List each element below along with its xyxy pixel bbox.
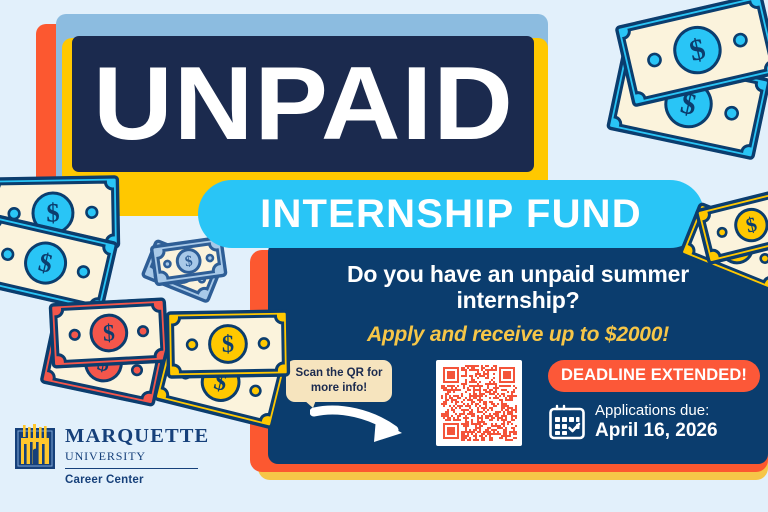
bill-yellow-mid-front: $ xyxy=(165,309,290,384)
logo-name: MARQUETTE xyxy=(65,426,209,447)
logo-unit: Career Center xyxy=(65,474,209,486)
svg-text:$: $ xyxy=(222,331,235,358)
bill-yellow-right-a: $ xyxy=(694,184,768,270)
info-panel: Do you have an unpaid summer internship?… xyxy=(268,242,768,464)
qr-code-icon[interactable] xyxy=(436,360,522,446)
svg-text:$: $ xyxy=(46,197,60,227)
logo-sub: UNIVERSITY xyxy=(65,449,198,469)
svg-text:$: $ xyxy=(102,320,115,347)
deadline-block: DEADLINE EXTENDED! xyxy=(548,360,760,442)
due-label: Applications due: xyxy=(595,402,718,420)
headline-text: Do you have an unpaid summer internship? xyxy=(284,258,752,314)
subtitle-banner: INTERNSHIP FUND xyxy=(198,180,704,248)
qr-bubble-text: Scan the QR for more info! xyxy=(286,360,392,402)
logo-wordmark: MARQUETTE UNIVERSITY Career Center xyxy=(65,424,209,486)
poster-canvas: $$$$$$$$ UNPAID INTERNSHIP FUND $$$$ Do … xyxy=(0,0,768,512)
title-card: UNPAID xyxy=(72,36,534,172)
cathedral-spires-icon xyxy=(14,424,56,470)
subtitle-banner-text: INTERNSHIP FUND xyxy=(260,192,642,237)
page-title: UNPAID xyxy=(93,52,514,156)
qr-deadline-row: Scan the QR for more info! DEADLINE EXTE… xyxy=(268,360,768,460)
deadline-badge: DEADLINE EXTENDED! xyxy=(548,360,760,392)
due-row: Applications due: April 16, 2026 xyxy=(548,402,760,442)
subline-text: Apply and receive up to $2000! xyxy=(284,323,752,347)
bill-red-lower-front: $ xyxy=(48,297,170,374)
curved-arrow-icon xyxy=(310,402,414,448)
qr-callout: Scan the QR for more info! xyxy=(282,360,432,460)
calendar-icon xyxy=(548,403,586,441)
marquette-logo: MARQUETTE UNIVERSITY Career Center xyxy=(14,424,209,486)
due-text: Applications due: April 16, 2026 xyxy=(595,402,718,442)
due-date: April 16, 2026 xyxy=(595,420,718,442)
